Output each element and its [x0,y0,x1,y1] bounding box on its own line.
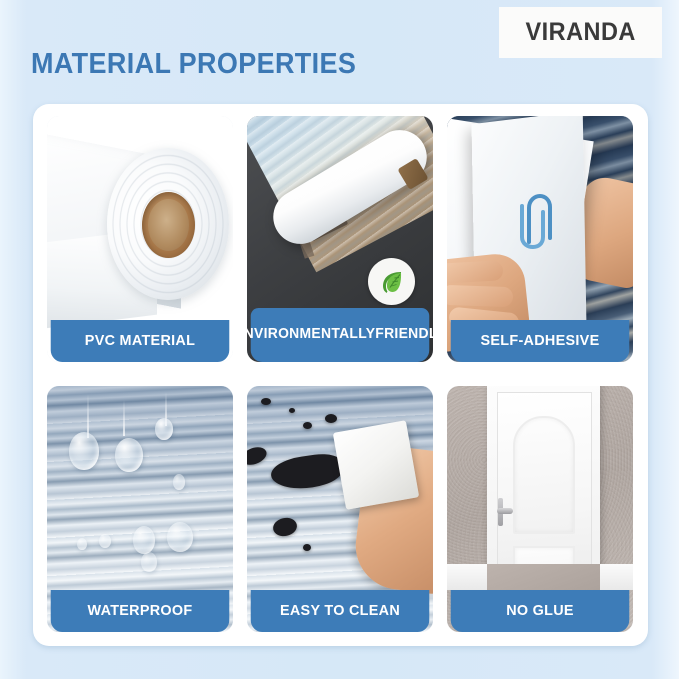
feature-label-no-glue: NO GLUE [451,590,630,632]
green-leaf-icon [377,267,407,297]
feature-label-line2: FRIENDLY [375,327,433,342]
feature-label-waterproof: WATERPROOF [51,590,230,632]
feature-cell-environmentally-friendly[interactable]: ENVIRONMENTALLY FRIENDLY [247,116,433,362]
feature-cell-pvc-material[interactable]: PVC MATERIAL [47,116,233,362]
brand-name: VIRANDA [525,18,635,47]
feature-label-easy-to-clean: EASY TO CLEAN [251,590,430,632]
infographic-page: VIRANDA MATERIAL PROPERTIES PVC MATERIAL [0,0,679,679]
feature-label-line1: ENVIRONMENTALLY [247,327,375,342]
page-title: MATERIAL PROPERTIES [31,48,356,81]
feature-cell-easy-to-clean[interactable]: EASY TO CLEAN [247,386,433,632]
green-leaf-badge [368,258,415,305]
feature-cell-self-adhesive[interactable]: SELF-ADHESIVE [447,116,633,362]
feature-label-self-adhesive: SELF-ADHESIVE [451,320,630,362]
feature-label-environmentally-friendly: ENVIRONMENTALLY FRIENDLY [251,308,430,362]
feature-label-pvc-material: PVC MATERIAL [51,320,230,362]
paperclip-icon [519,192,553,250]
feature-cell-no-glue[interactable]: NO GLUE [447,386,633,632]
feature-cell-waterproof[interactable]: WATERPROOF [47,386,233,632]
feature-grid: PVC MATERIAL ENVIRONMENTA [47,116,634,632]
brand-logo-box: VIRANDA [499,7,662,58]
